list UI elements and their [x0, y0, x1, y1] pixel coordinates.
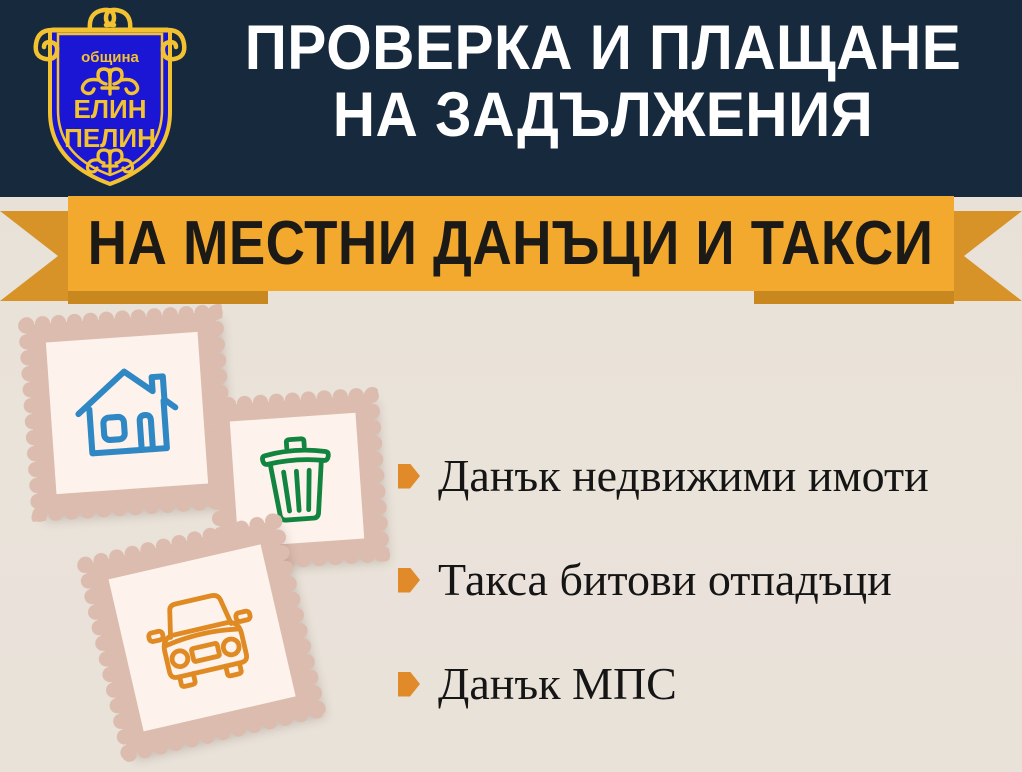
title-line-1: ПРОВЕРКА И ПЛАЩАНЕ	[228, 18, 978, 79]
ribbon-label: НА МЕСТНИ ДАНЪЦИ И ТАКСИ	[88, 213, 934, 275]
subtitle-ribbon: НА МЕСТНИ ДАНЪЦИ И ТАКСИ	[0, 196, 1022, 308]
logo-name-line-1: ЕЛИН	[73, 94, 146, 124]
list-item: Данък МПС	[398, 632, 1008, 736]
title-line-2: НА ЗАДЪЛЖЕНИЯ	[228, 85, 978, 146]
page-title: ПРОВЕРКА И ПЛАЩАНЕ НА ЗАДЪЛЖЕНИЯ	[200, 18, 1006, 146]
list-item-label: Данък недвижими имоти	[438, 452, 929, 500]
trash-can-icon	[254, 433, 340, 526]
bullet-arrow-icon	[398, 568, 420, 593]
stamp-inner-vehicle	[108, 544, 295, 731]
list-item: Данък недвижими имоти	[398, 424, 1008, 528]
bullet-arrow-icon	[398, 464, 420, 489]
list-item-label: Такса битови отпадъци	[438, 556, 892, 604]
list-item-label: Данък МПС	[438, 660, 677, 708]
logo-name-line-2: ПЕЛИН	[64, 123, 156, 153]
stamp-inner-property	[46, 332, 208, 494]
tax-type-list: Данък недвижими имоти Такса битови отпад…	[398, 424, 1008, 736]
list-item: Такса битови отпадъци	[398, 528, 1008, 632]
stamp-card-property	[26, 312, 229, 515]
car-icon	[136, 580, 268, 695]
poster-canvas: община ЕЛИН ПЕЛИН	[0, 0, 1022, 772]
logo-obshtina-label: община	[81, 49, 139, 66]
ribbon-banner: НА МЕСТНИ ДАНЪЦИ И ТАКСИ	[68, 196, 954, 291]
bullet-arrow-icon	[398, 672, 420, 697]
house-icon	[68, 358, 187, 469]
coat-of-arms-icon: община ЕЛИН ПЕЛИН	[26, 4, 194, 190]
municipality-logo: община ЕЛИН ПЕЛИН	[26, 4, 194, 190]
header-bar: община ЕЛИН ПЕЛИН	[0, 0, 1022, 197]
